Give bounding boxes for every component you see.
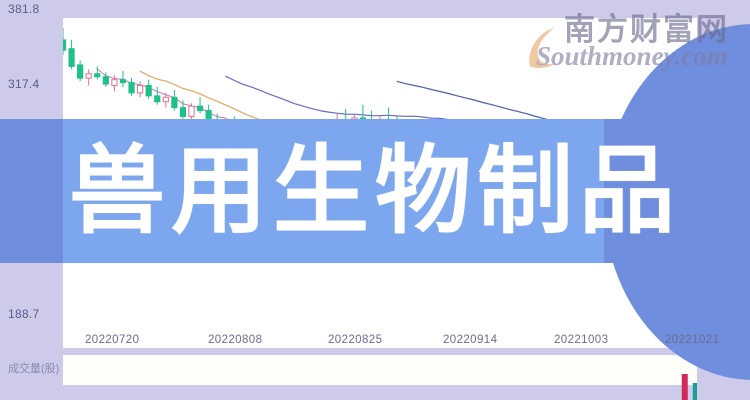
y-tick-1: 317.4 — [8, 77, 40, 91]
x-tick-2: 20220825 — [328, 334, 382, 346]
x-tick-0: 20220720 — [85, 334, 139, 346]
y-tick-3: 188.7 — [8, 307, 40, 321]
volume-axis-label: 成交量(股) — [8, 360, 59, 376]
x-tick-1: 20220808 — [208, 334, 262, 346]
volume-bars — [682, 374, 699, 400]
x-tick-3: 20220914 — [443, 334, 497, 346]
page-title: 兽用生物制品 — [0, 119, 750, 263]
x-tick-5: 20221021 — [665, 334, 719, 346]
stock-chart-screenshot: 381.8 317.4 253.0 188.7 成交量(股) 兽用生物制品 20… — [0, 0, 750, 400]
x-tick-4: 20221003 — [554, 334, 608, 346]
y-tick-0: 381.8 — [8, 2, 40, 16]
